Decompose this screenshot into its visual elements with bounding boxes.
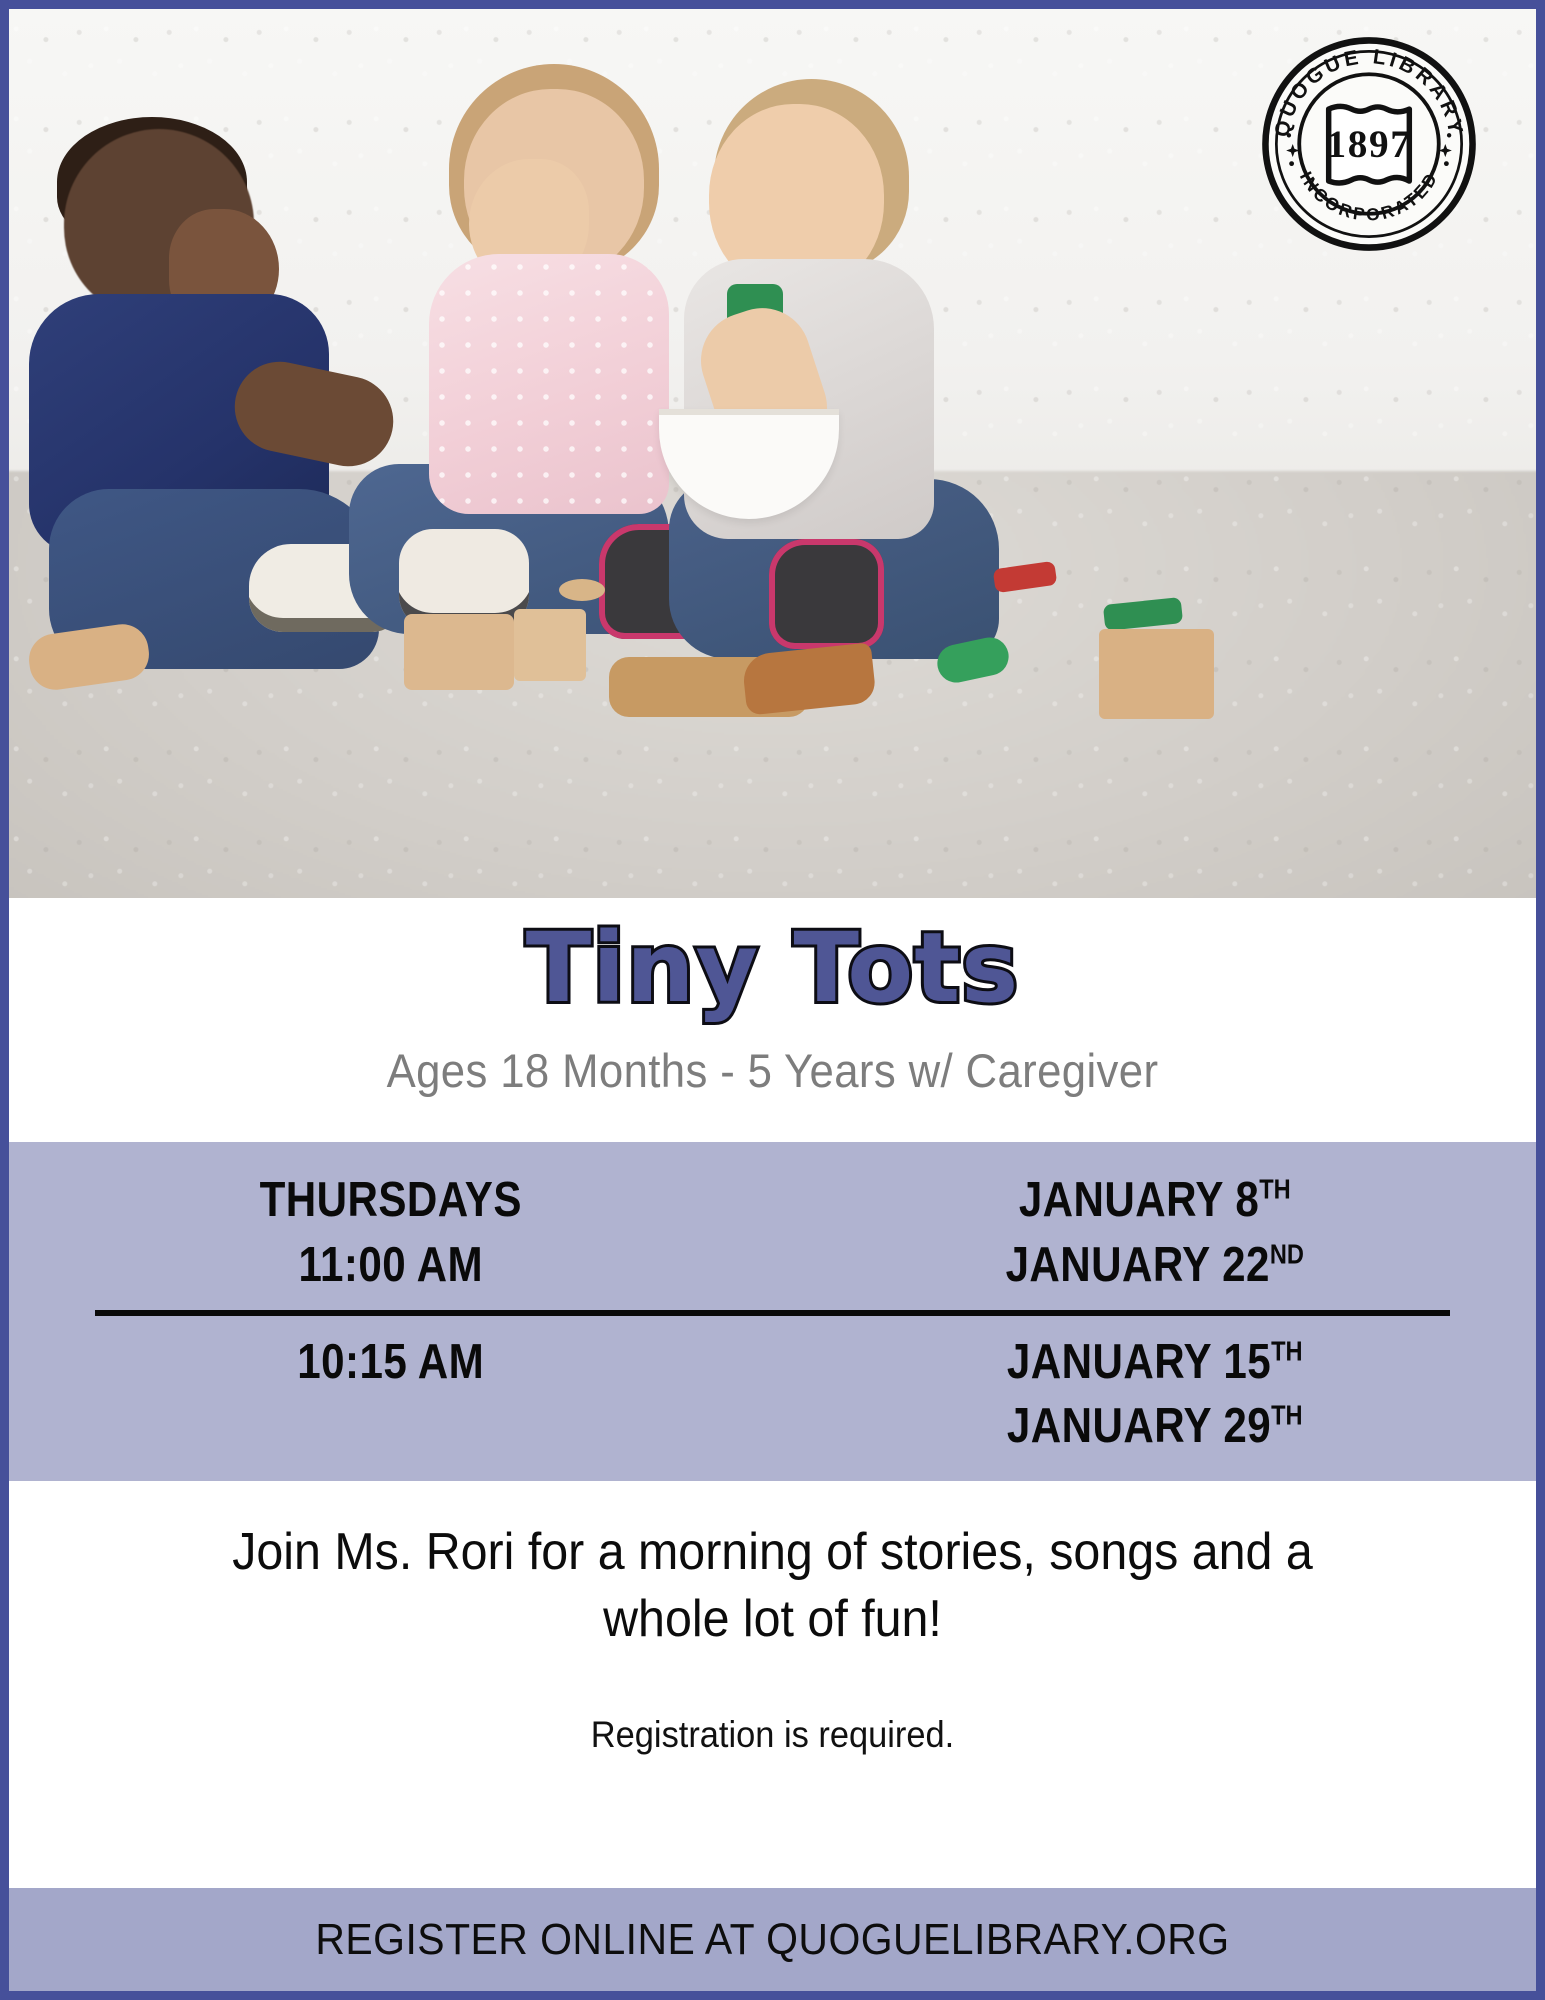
register-online-link[interactable]: REGISTER ONLINE AT QUOGUELIBRARY.ORG (315, 1915, 1229, 1965)
schedule-date-jan8-text: JANUARY 8 (1018, 1173, 1258, 1227)
schedule-date-jan22-ordinal: ND (1269, 1239, 1303, 1270)
child-center-shirt-pattern (429, 254, 669, 514)
quogue-library-seal-logo: QUOGUE LIBRARY INCORPORATED 1897 (1260, 35, 1478, 253)
hero-photo: QUOGUE LIBRARY INCORPORATED 1897 (9, 9, 1536, 898)
page-subtitle: Ages 18 Months - 5 Years w/ Caregiver (62, 1043, 1482, 1098)
schedule-date-jan29-text: JANUARY 29 (1006, 1399, 1270, 1453)
wooden-disc (559, 579, 605, 601)
seal-year: 1897 (1326, 123, 1411, 166)
schedule-row-2: 10:15 AM JANUARY 15TH JANUARY 29TH (9, 1330, 1536, 1459)
wooden-box-toy (1099, 629, 1214, 719)
schedule-row-2-right: JANUARY 15TH JANUARY 29TH (773, 1330, 1537, 1459)
schedule-date-jan8: JANUARY 8TH (826, 1168, 1483, 1233)
registration-note: Registration is required. (62, 1714, 1482, 1756)
schedule-row-2-left: 10:15 AM (9, 1330, 773, 1395)
schedule-date-jan29-ordinal: TH (1271, 1400, 1302, 1431)
schedule-row-1: THURSDAYS 11:00 AM JANUARY 8TH JANUARY 2… (9, 1168, 1536, 1297)
child-right-shoe (769, 539, 884, 649)
schedule-date-jan15-text: JANUARY 15 (1006, 1335, 1270, 1389)
page-title: Tiny Tots (9, 912, 1536, 1025)
schedule-band: THURSDAYS 11:00 AM JANUARY 8TH JANUARY 2… (9, 1142, 1536, 1481)
schedule-day-label: THURSDAYS (62, 1168, 719, 1233)
event-description: Join Ms. Rori for a morning of stories, … (62, 1481, 1482, 1652)
schedule-divider (95, 1310, 1450, 1316)
footer-band: REGISTER ONLINE AT QUOGUELIBRARY.ORG (9, 1888, 1536, 1991)
poster-root: QUOGUE LIBRARY INCORPORATED 1897 (0, 0, 1545, 2000)
schedule-date-jan22-text: JANUARY 22 (1005, 1238, 1269, 1292)
title-block: Tiny Tots Ages 18 Months - 5 Years w/ Ca… (9, 898, 1536, 1098)
schedule-row-1-right: JANUARY 8TH JANUARY 22ND (773, 1168, 1537, 1297)
schedule-date-jan15: JANUARY 15TH (826, 1330, 1483, 1395)
wooden-block-1 (404, 614, 514, 690)
schedule-date-jan8-ordinal: TH (1259, 1174, 1290, 1205)
schedule-row-1-left: THURSDAYS 11:00 AM (9, 1168, 773, 1297)
schedule-time-1015: 10:15 AM (62, 1330, 719, 1395)
schedule-time-1100: 11:00 AM (62, 1233, 719, 1298)
schedule-date-jan15-ordinal: TH (1271, 1335, 1302, 1366)
wooden-block-2 (514, 609, 586, 681)
schedule-date-jan29: JANUARY 29TH (826, 1394, 1483, 1459)
schedule-date-jan22: JANUARY 22ND (826, 1233, 1483, 1298)
